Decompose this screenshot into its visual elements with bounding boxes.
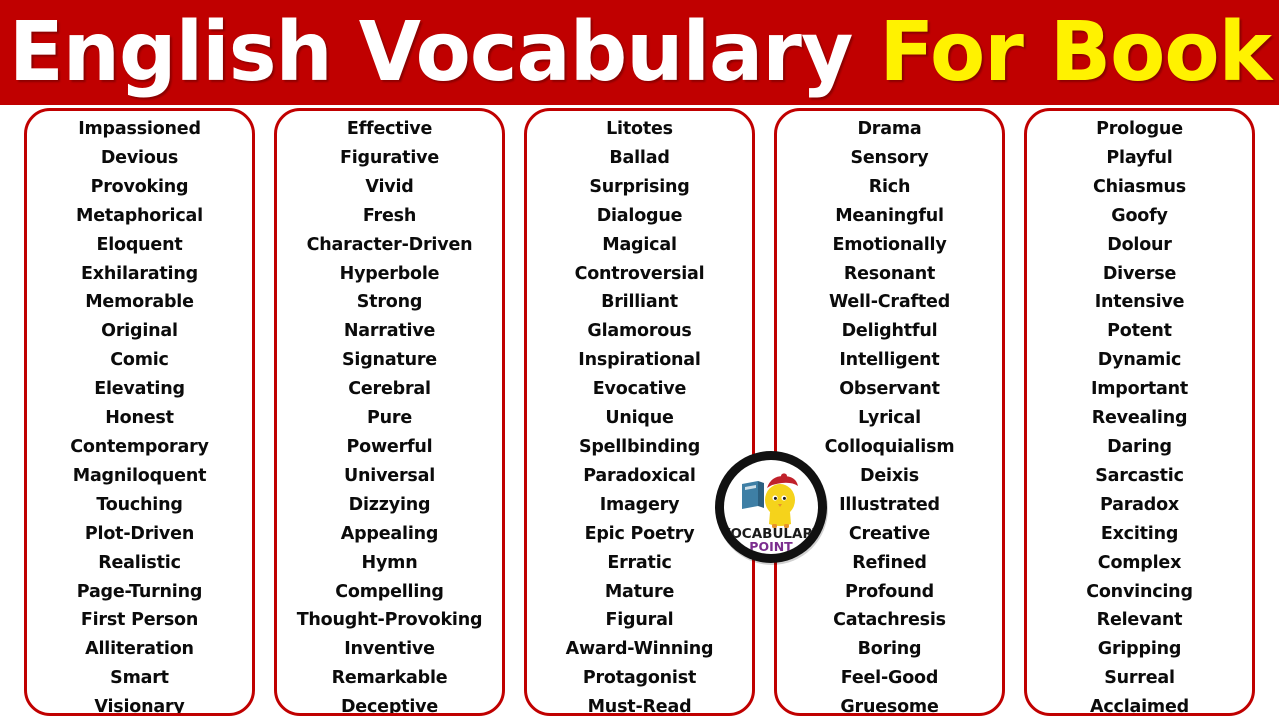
vocabulary-word: Cerebral (277, 375, 502, 404)
vocabulary-word: Well-Crafted (777, 288, 1002, 317)
vocabulary-word: Inspirational (527, 346, 752, 375)
vocabulary-word: Award-Winning (527, 635, 752, 664)
vocabulary-word: Inventive (277, 635, 502, 664)
vocabulary-word: Pure (277, 404, 502, 433)
vocabulary-word: Contemporary (27, 433, 252, 462)
vocabulary-word: Gruesome (777, 693, 1002, 716)
vocabulary-word: Dynamic (1027, 346, 1252, 375)
vocabulary-word: Realistic (27, 549, 252, 578)
vocabulary-word: Exhilarating (27, 260, 252, 289)
word-columns-container: ImpassionedDeviousProvokingMetaphoricalE… (0, 108, 1279, 720)
vocabulary-word: Metaphorical (27, 202, 252, 231)
vocabulary-word: Brilliant (527, 288, 752, 317)
word-card-4: DramaSensoryRichMeaningfulEmotionallyRes… (774, 108, 1005, 716)
vocabulary-word: Sarcastic (1027, 462, 1252, 491)
vocabulary-word: Potent (1027, 317, 1252, 346)
word-card-1: ImpassionedDeviousProvokingMetaphoricalE… (24, 108, 255, 716)
vocabulary-word: Sensory (777, 144, 1002, 173)
vocabulary-word: Ballad (527, 144, 752, 173)
vocabulary-word: Page-Turning (27, 578, 252, 607)
vocabulary-word: Honest (27, 404, 252, 433)
word-card-2: EffectiveFigurativeVividFreshCharacter-D… (274, 108, 505, 716)
vocabulary-word: Comic (27, 346, 252, 375)
vocabulary-word: Figural (527, 606, 752, 635)
vocabulary-word: Rich (777, 173, 1002, 202)
vocabulary-word: Vivid (277, 173, 502, 202)
vocabulary-word: Complex (1027, 549, 1252, 578)
vocabulary-word: Gripping (1027, 635, 1252, 664)
vocabulary-word: Boring (777, 635, 1002, 664)
vocabulary-word: Alliteration (27, 635, 252, 664)
vocabulary-word: Mature (527, 578, 752, 607)
vocabulary-word: Glamorous (527, 317, 752, 346)
vocabulary-word: Remarkable (277, 664, 502, 693)
vocabulary-word: Deceptive (277, 693, 502, 716)
page-title: English Vocabulary For Book (8, 7, 1270, 99)
vocabulary-word: Signature (277, 346, 502, 375)
vocabulary-word: Powerful (277, 433, 502, 462)
vocabulary-word: Magical (527, 231, 752, 260)
vocabulary-word: Unique (527, 404, 752, 433)
vocabulary-word: Provoking (27, 173, 252, 202)
vocabulary-word: Chiasmus (1027, 173, 1252, 202)
vocabulary-word: Appealing (277, 520, 502, 549)
vocabulary-word: Prologue (1027, 115, 1252, 144)
vocabulary-word: Profound (777, 578, 1002, 607)
vocabulary-word: Eloquent (27, 231, 252, 260)
vocabulary-word: Figurative (277, 144, 502, 173)
vocabulary-word: Convincing (1027, 578, 1252, 607)
vocabulary-word: Daring (1027, 433, 1252, 462)
infographic-page: English Vocabulary For Book ImpassionedD… (0, 0, 1279, 720)
vocabulary-word: Surreal (1027, 664, 1252, 693)
vocabulary-word: Intensive (1027, 288, 1252, 317)
vocabulary-word: Surprising (527, 173, 752, 202)
vocabulary-word: Impassioned (27, 115, 252, 144)
vocabulary-word: Strong (277, 288, 502, 317)
vocabulary-word: Hymn (277, 549, 502, 578)
vocabulary-word: Dizzying (277, 491, 502, 520)
vocabulary-word: Must-Read (527, 693, 752, 716)
vocabulary-word: Revealing (1027, 404, 1252, 433)
book-icon (742, 481, 764, 509)
vocabulary-word: Smart (27, 664, 252, 693)
vocabulary-word: Observant (777, 375, 1002, 404)
vocabulary-word: Meaningful (777, 202, 1002, 231)
vocabulary-word: Dolour (1027, 231, 1252, 260)
vocabulary-word: Acclaimed (1027, 693, 1252, 716)
vocabulary-word: Visionary (27, 693, 252, 716)
vocabulary-word: Dialogue (527, 202, 752, 231)
vocabulary-word: Thought-Provoking (277, 606, 502, 635)
vocabulary-word: Lyrical (777, 404, 1002, 433)
vocabulary-word: Relevant (1027, 606, 1252, 635)
header-banner: English Vocabulary For Book (0, 0, 1279, 105)
vocabulary-word: Playful (1027, 144, 1252, 173)
vocabulary-word: Feel-Good (777, 664, 1002, 693)
vocabulary-word: Touching (27, 491, 252, 520)
vocabulary-word: First Person (27, 606, 252, 635)
vocabulary-word: Exciting (1027, 520, 1252, 549)
vocabulary-word: Important (1027, 375, 1252, 404)
vocabulary-word: Diverse (1027, 260, 1252, 289)
vocabulary-word: Goofy (1027, 202, 1252, 231)
word-card-5: ProloguePlayfulChiasmusGoofyDolourDivers… (1024, 108, 1255, 716)
vocabulary-word: Protagonist (527, 664, 752, 693)
vocabulary-word: Resonant (777, 260, 1002, 289)
vocabulary-word: Original (27, 317, 252, 346)
vocabulary-word: Universal (277, 462, 502, 491)
vocabulary-word: Character-Driven (277, 231, 502, 260)
vocabulary-word: Catachresis (777, 606, 1002, 635)
word-card-3: LitotesBalladSurprisingDialogueMagicalCo… (524, 108, 755, 716)
vocabulary-word: Intelligent (777, 346, 1002, 375)
vocabulary-word: Fresh (277, 202, 502, 231)
vocabulary-word: Narrative (277, 317, 502, 346)
title-part-yellow: For Book (879, 5, 1271, 100)
vocabulary-word: Evocative (527, 375, 752, 404)
title-part-white: English Vocabulary (8, 5, 851, 100)
vocabulary-word: Elevating (27, 375, 252, 404)
vocabulary-word: Hyperbole (277, 260, 502, 289)
vocabulary-word: Paradox (1027, 491, 1252, 520)
vocabulary-word: Devious (27, 144, 252, 173)
vocabulary-word: Magniloquent (27, 462, 252, 491)
vocabulary-word: Emotionally (777, 231, 1002, 260)
vocabulary-word: Effective (277, 115, 502, 144)
vocabulary-word: Drama (777, 115, 1002, 144)
vocabulary-word: Compelling (277, 578, 502, 607)
vocabulary-word: Litotes (527, 115, 752, 144)
vocabulary-word: Controversial (527, 260, 752, 289)
vocabulary-word: Delightful (777, 317, 1002, 346)
vocabulary-point-logo: VOCABULARY POINT .COM (712, 448, 830, 566)
vocabulary-word: Memorable (27, 288, 252, 317)
vocabulary-word: Plot-Driven (27, 520, 252, 549)
